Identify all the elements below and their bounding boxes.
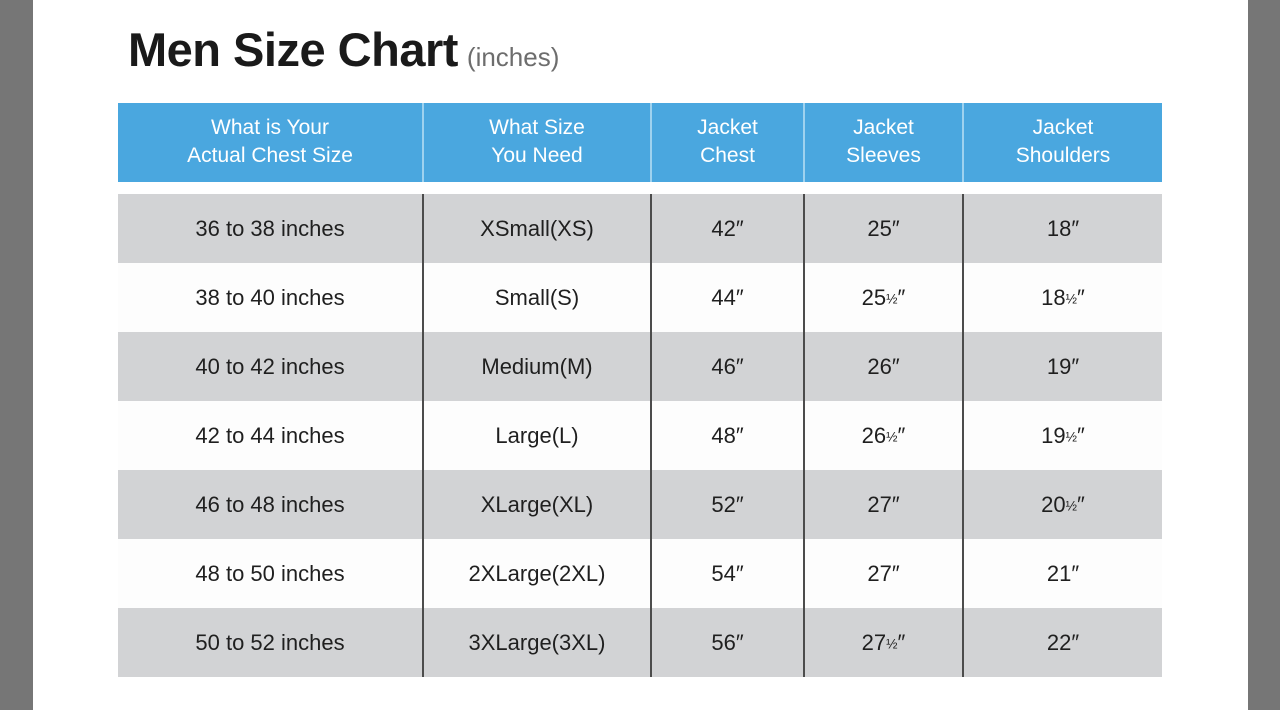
cell-chest-range: 38 to 40 inches bbox=[118, 263, 424, 332]
column-header-line-1: Jacket bbox=[968, 114, 1158, 142]
table-row: 48 to 50 inches 2XLarge(2XL) 54″ 27″ 21″ bbox=[118, 539, 1162, 608]
cell-jacket-chest: 48″ bbox=[652, 401, 805, 470]
column-header-line-2: Sleeves bbox=[809, 142, 958, 170]
cell-chest-range: 40 to 42 inches bbox=[118, 332, 424, 401]
column-header-line-1: What Size bbox=[428, 114, 646, 142]
cell-size-name: XLarge(XL) bbox=[424, 470, 652, 539]
cell-size-name: 2XLarge(2XL) bbox=[424, 539, 652, 608]
page-title: Men Size Chart (inches) bbox=[128, 22, 559, 77]
column-header-line-2: Actual Chest Size bbox=[122, 142, 418, 170]
header-body-gap bbox=[118, 182, 1162, 194]
table-header-row: What is Your Actual Chest Size What Size… bbox=[118, 103, 1162, 182]
cell-jacket-chest: 54″ bbox=[652, 539, 805, 608]
cell-jacket-sleeves: 27″ bbox=[805, 470, 964, 539]
column-header-jacket-shoulders: Jacket Shoulders bbox=[964, 103, 1162, 182]
table-row: 46 to 48 inches XLarge(XL) 52″ 27″ 20½″ bbox=[118, 470, 1162, 539]
page-title-main: Men Size Chart bbox=[128, 22, 458, 77]
cell-chest-range: 36 to 38 inches bbox=[118, 194, 424, 263]
cell-jacket-shoulders: 19″ bbox=[964, 332, 1162, 401]
cell-jacket-chest: 44″ bbox=[652, 263, 805, 332]
column-header-line-2: Shoulders bbox=[968, 142, 1158, 170]
letterbox-bar-left bbox=[0, 0, 33, 710]
cell-size-name: Small(S) bbox=[424, 263, 652, 332]
half-fraction-glyph: ½ bbox=[1066, 498, 1077, 513]
column-header-line-1: What is Your bbox=[122, 114, 418, 142]
column-header-actual-chest-size: What is Your Actual Chest Size bbox=[118, 103, 424, 182]
cell-chest-range: 48 to 50 inches bbox=[118, 539, 424, 608]
cell-jacket-shoulders: 22″ bbox=[964, 608, 1162, 677]
cell-jacket-shoulders: 18½″ bbox=[964, 263, 1162, 332]
document-page: Men Size Chart (inches) What is Your Act… bbox=[33, 0, 1248, 710]
half-fraction-glyph: ½ bbox=[886, 429, 897, 444]
cell-chest-range: 50 to 52 inches bbox=[118, 608, 424, 677]
cell-jacket-sleeves: 26½″ bbox=[805, 401, 964, 470]
cell-jacket-sleeves: 27½″ bbox=[805, 608, 964, 677]
table-row: 36 to 38 inches XSmall(XS) 42″ 25″ 18″ bbox=[118, 194, 1162, 263]
page-title-units: (inches) bbox=[467, 42, 559, 73]
cell-jacket-sleeves: 25½″ bbox=[805, 263, 964, 332]
cell-size-name: 3XLarge(3XL) bbox=[424, 608, 652, 677]
half-fraction-glyph: ½ bbox=[1066, 429, 1077, 444]
column-header-jacket-chest: Jacket Chest bbox=[652, 103, 805, 182]
table-header: What is Your Actual Chest Size What Size… bbox=[118, 103, 1162, 182]
size-chart-table: What is Your Actual Chest Size What Size… bbox=[118, 103, 1162, 677]
cell-jacket-sleeves: 27″ bbox=[805, 539, 964, 608]
table-row: 40 to 42 inches Medium(M) 46″ 26″ 19″ bbox=[118, 332, 1162, 401]
cell-jacket-chest: 46″ bbox=[652, 332, 805, 401]
table-row: 38 to 40 inches Small(S) 44″ 25½″ 18½″ bbox=[118, 263, 1162, 332]
half-fraction-glyph: ½ bbox=[1066, 291, 1077, 306]
cell-size-name: Large(L) bbox=[424, 401, 652, 470]
column-header-jacket-sleeves: Jacket Sleeves bbox=[805, 103, 964, 182]
cell-jacket-shoulders: 21″ bbox=[964, 539, 1162, 608]
cell-jacket-shoulders: 19½″ bbox=[964, 401, 1162, 470]
column-header-line-2: Chest bbox=[656, 142, 799, 170]
column-header-size-you-need: What Size You Need bbox=[424, 103, 652, 182]
letterbox-bar-right bbox=[1248, 0, 1280, 710]
table-body: 36 to 38 inches XSmall(XS) 42″ 25″ 18″ 3… bbox=[118, 182, 1162, 677]
cell-jacket-shoulders: 20½″ bbox=[964, 470, 1162, 539]
column-header-line-2: You Need bbox=[428, 142, 646, 170]
cell-size-name: Medium(M) bbox=[424, 332, 652, 401]
half-fraction-glyph: ½ bbox=[886, 291, 897, 306]
table-row: 50 to 52 inches 3XLarge(3XL) 56″ 27½″ 22… bbox=[118, 608, 1162, 677]
column-header-line-1: Jacket bbox=[656, 114, 799, 142]
half-fraction-glyph: ½ bbox=[886, 636, 897, 651]
cell-jacket-chest: 56″ bbox=[652, 608, 805, 677]
cell-jacket-chest: 42″ bbox=[652, 194, 805, 263]
table-row: 42 to 44 inches Large(L) 48″ 26½″ 19½″ bbox=[118, 401, 1162, 470]
cell-jacket-shoulders: 18″ bbox=[964, 194, 1162, 263]
cell-jacket-chest: 52″ bbox=[652, 470, 805, 539]
cell-chest-range: 46 to 48 inches bbox=[118, 470, 424, 539]
column-header-line-1: Jacket bbox=[809, 114, 958, 142]
cell-jacket-sleeves: 25″ bbox=[805, 194, 964, 263]
cell-size-name: XSmall(XS) bbox=[424, 194, 652, 263]
cell-jacket-sleeves: 26″ bbox=[805, 332, 964, 401]
cell-chest-range: 42 to 44 inches bbox=[118, 401, 424, 470]
